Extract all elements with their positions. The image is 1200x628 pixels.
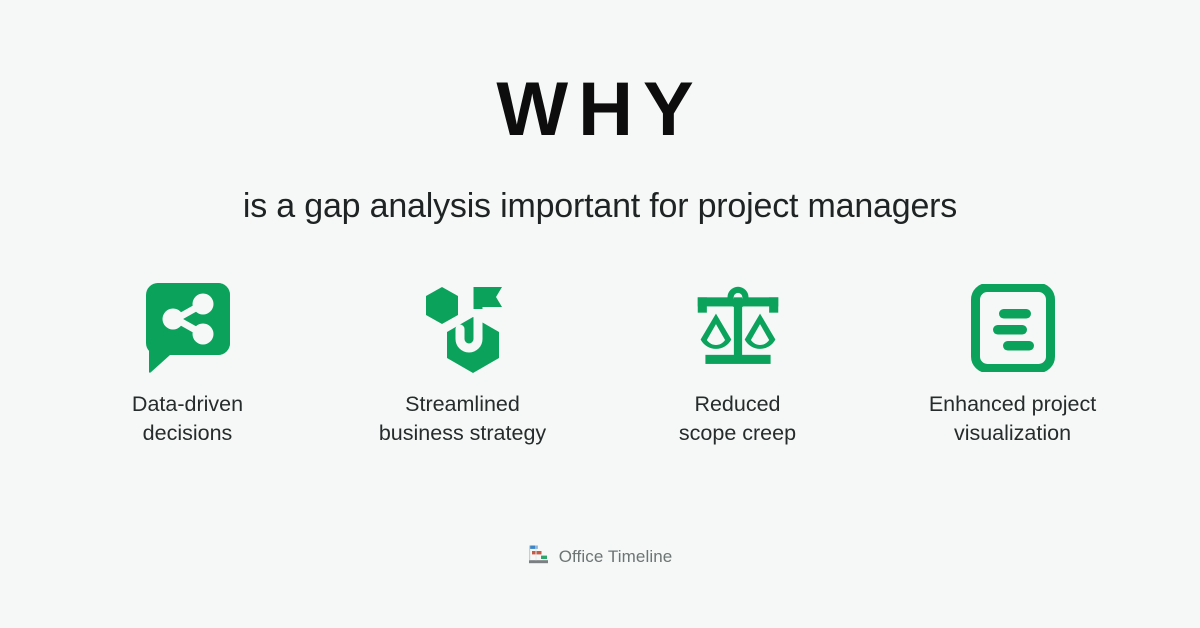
feature-label: Streamlined business strategy <box>379 390 546 449</box>
share-speech-bubble-icon <box>142 282 234 374</box>
feature-label: Data-driven decisions <box>132 390 243 449</box>
balance-scales-icon <box>692 282 784 374</box>
page-title: WHY <box>0 72 1200 148</box>
feature-label: Reduced scope creep <box>679 390 796 449</box>
brand-name: Office Timeline <box>559 547 673 567</box>
feature-item-enhanced-project-visualization: Enhanced project visualization <box>875 282 1150 449</box>
page-subtitle: is a gap analysis important for project … <box>0 186 1200 227</box>
office-timeline-gantt-logo-icon <box>528 543 550 570</box>
hexagon-flag-pin-icon <box>417 282 509 374</box>
feature-item-data-driven-decisions: Data-driven decisions <box>50 282 325 449</box>
infographic-page: WHY is a gap analysis important for proj… <box>0 0 1200 628</box>
feature-list: Data-driven decisions <box>50 282 1150 449</box>
feature-label: Enhanced project visualization <box>929 390 1096 449</box>
header: WHY is a gap analysis important for proj… <box>0 0 1200 227</box>
feature-item-streamlined-business-strategy: Streamlined business strategy <box>325 282 600 449</box>
footer-branding: Office Timeline <box>0 543 1200 570</box>
gantt-document-icon <box>967 282 1059 374</box>
feature-item-reduced-scope-creep: Reduced scope creep <box>600 282 875 449</box>
